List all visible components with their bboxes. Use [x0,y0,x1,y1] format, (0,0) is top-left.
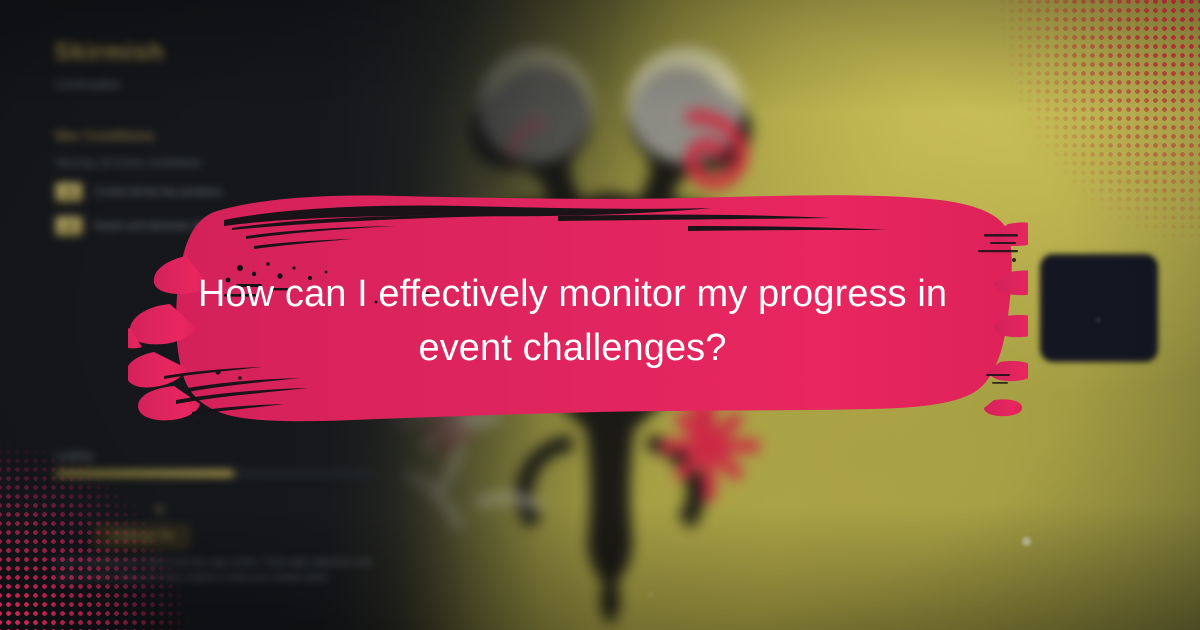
halftone-dots-bottom-left [0,429,201,630]
social-share-card: Skirmish Continuation War Conditions War… [0,0,1200,630]
page-title: How can I effectively monitor my progres… [150,268,995,376]
